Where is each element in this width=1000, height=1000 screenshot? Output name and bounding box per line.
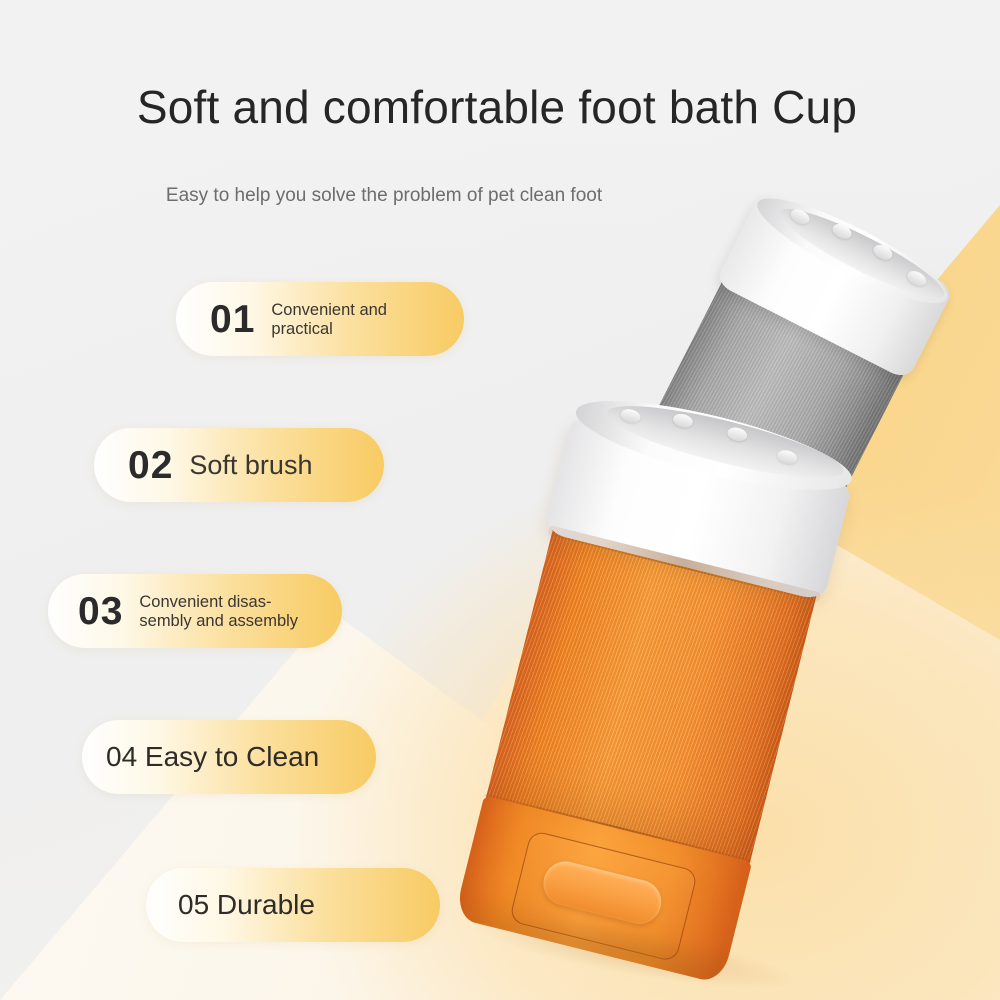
feature-pill-04[interactable]: 04 Easy to Clean xyxy=(82,720,376,794)
feature-label-03-line2: sembly and assembly xyxy=(139,612,298,630)
page-subtitle: Easy to help you solve the problem of pe… xyxy=(0,182,1000,210)
feature-text-04: 04 Easy to Clean xyxy=(106,743,319,771)
feature-pill-05[interactable]: 05 Durable xyxy=(146,868,440,942)
feature-label-03: Convenient disas- sembly and assembly xyxy=(139,593,298,631)
feature-text-05: 05 Durable xyxy=(178,891,315,919)
feature-label-01-line1: Convenient and xyxy=(271,301,387,319)
feature-label-01-line2: practical xyxy=(271,320,332,338)
feature-number-01: 01 xyxy=(210,300,255,339)
feature-label-03-line1: Convenient disas- xyxy=(139,593,271,611)
feature-label-02: Soft brush xyxy=(189,452,312,479)
feature-pill-02[interactable]: 02 Soft brush xyxy=(94,428,384,502)
feature-number-03: 03 xyxy=(78,592,123,631)
feature-label-01: Convenient and practical xyxy=(271,301,387,339)
poster-canvas: Soft and comfortable foot bath Cup Easy … xyxy=(0,0,1000,1000)
page-title: Soft and comfortable foot bath Cup xyxy=(0,78,1000,136)
feature-pill-03[interactable]: 03 Convenient disas- sembly and assembly xyxy=(48,574,342,648)
feature-number-02: 02 xyxy=(128,446,173,485)
feature-pill-01[interactable]: 01 Convenient and practical xyxy=(176,282,464,356)
